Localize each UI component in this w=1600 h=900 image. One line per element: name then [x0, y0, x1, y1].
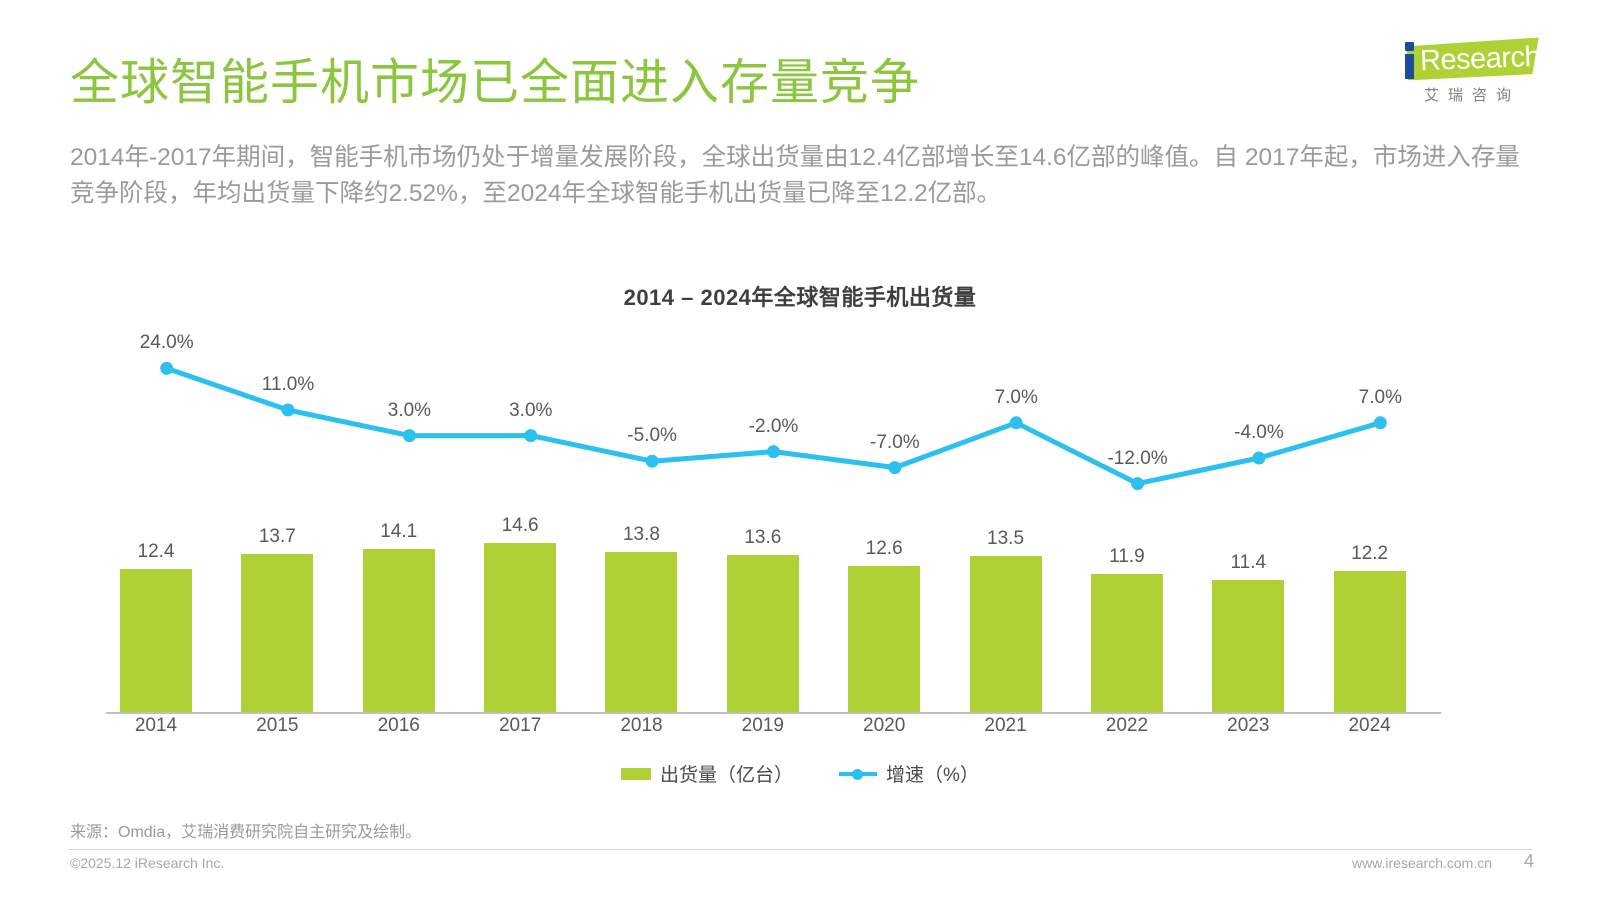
shipment-bar[interactable] — [1334, 571, 1406, 712]
logo-wordmark: Research — [1419, 41, 1540, 77]
bar-column[interactable]: 12.4 — [106, 330, 227, 712]
legend-bar-label: 出货量（亿台） — [660, 760, 793, 787]
chart-title: 2014 – 2024年全球智能手机出货量 — [0, 280, 1600, 312]
legend-item-growth[interactable]: 增速（%） — [839, 760, 979, 787]
shipment-bar[interactable] — [848, 566, 920, 712]
bar-value-label: 13.7 — [227, 526, 327, 548]
bar-value-label: 11.4 — [1198, 552, 1298, 574]
bar-value-label: 12.2 — [1320, 543, 1420, 565]
logo-chinese-name: 艾瑞咨询 — [1406, 84, 1538, 105]
shipment-bar[interactable] — [484, 543, 556, 712]
bar-value-label: 12.4 — [106, 541, 206, 563]
bar-value-label: 14.6 — [470, 515, 570, 537]
bar-value-label: 11.9 — [1077, 546, 1177, 568]
bar-value-label: 13.8 — [591, 524, 691, 546]
legend-item-shipment[interactable]: 出货量（亿台） — [621, 760, 793, 787]
bar-value-label: 13.5 — [956, 528, 1056, 550]
shipment-bar[interactable] — [1091, 574, 1163, 712]
x-tick-label: 2019 — [713, 715, 834, 737]
website-text: www.iresearch.com.cn — [1352, 855, 1492, 871]
bar-column[interactable]: 12.2 — [1320, 330, 1441, 712]
shipment-bar[interactable] — [727, 555, 799, 712]
subtitle: 2014年-2017年期间，智能手机市场仍处于增量发展阶段，全球出货量由12.4… — [70, 140, 1540, 212]
shipment-bar[interactable] — [1212, 580, 1284, 712]
bar-column[interactable]: 14.6 — [470, 330, 591, 712]
bar-column[interactable]: 13.7 — [227, 330, 348, 712]
logo-i-stem — [1405, 54, 1414, 79]
shipment-bar[interactable] — [363, 549, 435, 712]
copyright-text: ©2025.12 iResearch Inc. — [70, 855, 224, 871]
x-tick-label: 2023 — [1198, 715, 1319, 737]
x-tick-label: 2022 — [1077, 715, 1198, 737]
bar-value-label: 13.6 — [713, 527, 813, 549]
slide: 全球智能手机市场已全面进入存量竞争 Research 艾瑞咨询 2014年-20… — [0, 0, 1600, 900]
x-axis-labels: 2014201520162017201820192020202120222023… — [106, 715, 1441, 755]
legend-line-swatch — [839, 768, 877, 780]
bar-value-label: 12.6 — [834, 538, 934, 560]
x-tick-label: 2020 — [834, 715, 955, 737]
x-tick-label: 2016 — [349, 715, 470, 737]
footer-divider — [68, 849, 1532, 850]
x-tick-label: 2024 — [1320, 715, 1441, 737]
bar-column[interactable]: 13.5 — [956, 330, 1077, 712]
chart-legend: 出货量（亿台） 增速（%） — [0, 760, 1600, 787]
legend-bar-swatch — [621, 768, 651, 780]
bar-column[interactable]: 11.4 — [1198, 330, 1319, 712]
page-title: 全球智能手机市场已全面进入存量竞争 — [70, 52, 920, 114]
page-number: 4 — [1524, 851, 1534, 872]
logo-mark: Research — [1388, 38, 1538, 82]
bar-column[interactable]: 12.6 — [834, 330, 955, 712]
bar-value-label: 14.1 — [349, 521, 449, 543]
subtitle-line-1: 2014年-2017年期间，智能手机市场仍处于增量发展阶段，全球出货量由12.4… — [70, 144, 1238, 171]
source-note: 来源：Omdia，艾瑞消费研究院自主研究及绘制。 — [70, 818, 421, 842]
x-tick-label: 2018 — [591, 715, 712, 737]
shipment-bar[interactable] — [970, 556, 1042, 712]
x-tick-label: 2017 — [470, 715, 591, 737]
shipment-bars-layer: 12.413.714.114.613.813.612.613.511.911.4… — [106, 330, 1441, 712]
x-tick-label: 2014 — [106, 715, 227, 737]
legend-line-label: 增速（%） — [886, 760, 979, 787]
shipment-bar[interactable] — [241, 554, 313, 712]
bar-column[interactable]: 13.8 — [591, 330, 712, 712]
bar-column[interactable]: 13.6 — [713, 330, 834, 712]
logo-i-dot — [1405, 42, 1414, 51]
x-tick-label: 2021 — [956, 715, 1077, 737]
iresearch-logo: Research 艾瑞咨询 — [1388, 38, 1538, 110]
shipment-bar[interactable] — [605, 552, 677, 712]
shipment-bar[interactable] — [120, 569, 192, 712]
x-axis-line — [106, 712, 1441, 714]
x-tick-label: 2015 — [227, 715, 348, 737]
bar-column[interactable]: 11.9 — [1077, 330, 1198, 712]
bar-column[interactable]: 14.1 — [349, 330, 470, 712]
